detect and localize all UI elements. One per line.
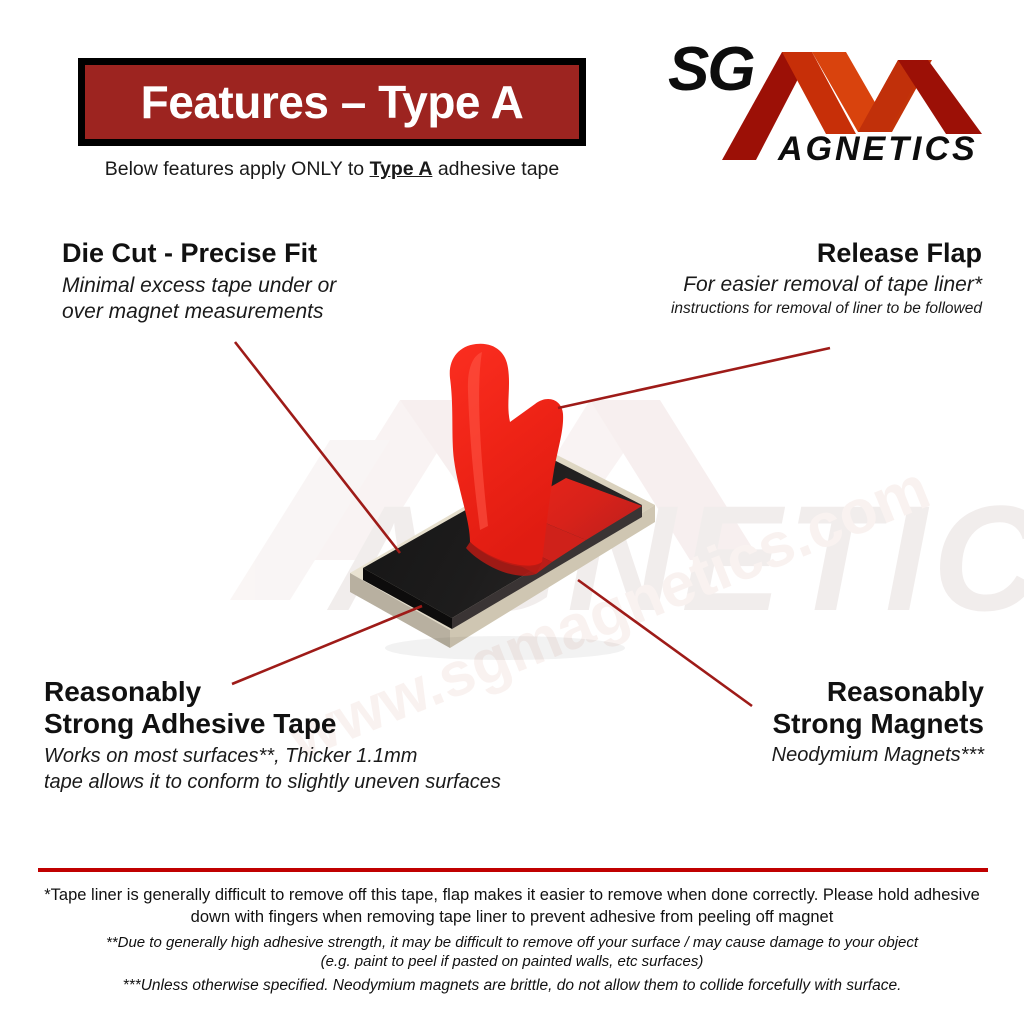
subtitle: Below features apply ONLY to Type A adhe… <box>78 158 586 181</box>
subtitle-part-2: adhesive tape <box>432 158 559 180</box>
callout-adhesive-tape-desc-line-1: Works on most surfaces**, Thicker 1.1mm <box>44 744 614 770</box>
callout-adhesive-tape: Reasonably Strong Adhesive Tape Works on… <box>44 676 614 795</box>
callout-release-flap: Release Flap For easier removal of tape … <box>552 238 982 319</box>
callout-release-flap-title: Release Flap <box>552 238 982 269</box>
callout-release-flap-note: instructions for removal of liner to be … <box>552 300 982 319</box>
callout-adhesive-tape-title-line-2: Strong Adhesive Tape <box>44 708 614 740</box>
infographic-page: AGNETIC www.sgmagnetics.com Features – T… <box>0 0 1024 1024</box>
logo-agnetics-text: AGNETICS <box>777 130 978 168</box>
callout-magnets-desc: Neodymium Magnets*** <box>564 743 984 769</box>
subtitle-emphasis: Type A <box>370 158 433 180</box>
callout-die-cut-desc-line-2: over magnet measurements <box>62 299 462 326</box>
callout-magnets-title-line-2: Strong Magnets <box>564 708 984 740</box>
subtitle-part-1: Below features apply ONLY to <box>105 158 370 180</box>
callout-die-cut-title: Die Cut - Precise Fit <box>62 238 462 269</box>
callout-die-cut: Die Cut - Precise Fit Minimal excess tap… <box>62 238 462 326</box>
logo-sg-text: SG <box>668 35 754 104</box>
callout-release-flap-desc: For easier removal of tape liner* <box>552 272 982 299</box>
sg-magnetics-logo: SG AGNETICS <box>660 28 990 168</box>
product-photo: 3M <box>330 330 730 700</box>
callout-magnets: Reasonably Strong Magnets Neodymium Magn… <box>564 676 984 769</box>
callout-magnets-title: Reasonably Strong Magnets <box>564 676 984 739</box>
callout-die-cut-desc-line-1: Minimal excess tape under or <box>62 273 462 300</box>
callout-adhesive-tape-desc-line-2: tape allows it to conform to slightly un… <box>44 770 614 796</box>
footnote-3: ***Unless otherwise specified. Neodymium… <box>30 976 994 996</box>
footnote-1: *Tape liner is generally difficult to re… <box>30 884 994 929</box>
title-banner: Features – Type A <box>78 58 586 146</box>
callout-magnets-title-line-1: Reasonably <box>564 676 984 708</box>
footnote-2: **Due to generally high adhesive strengt… <box>30 933 994 973</box>
footnotes: *Tape liner is generally difficult to re… <box>30 884 994 996</box>
callout-adhesive-tape-desc: Works on most surfaces**, Thicker 1.1mm … <box>44 744 614 795</box>
callout-adhesive-tape-title-line-1: Reasonably <box>44 676 614 708</box>
callout-adhesive-tape-title: Reasonably Strong Adhesive Tape <box>44 676 614 739</box>
callout-die-cut-desc: Minimal excess tape under or over magnet… <box>62 273 462 327</box>
page-title: Features – Type A <box>141 79 524 125</box>
footer-divider <box>38 868 988 872</box>
